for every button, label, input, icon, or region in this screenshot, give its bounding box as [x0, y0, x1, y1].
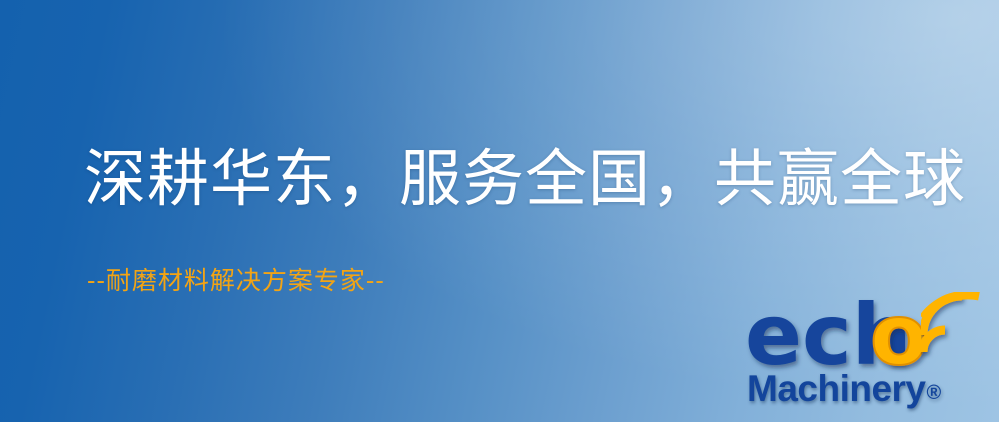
- hero-banner: 深耕华东，服务全国，共赢全球 --耐磨材料解决方案专家-- ech o: [0, 0, 999, 422]
- signal-arcs-icon: [921, 292, 999, 370]
- logo-tagline: Machinery®: [747, 368, 941, 410]
- registered-trademark-symbol: ®: [927, 382, 941, 404]
- logo-tagline-text: Machinery: [747, 368, 926, 409]
- company-logo[interactable]: ech o Machinery®: [745, 292, 999, 422]
- banner-subtitle: --耐磨材料解决方案专家--: [87, 268, 385, 293]
- banner-headline: 深耕华东，服务全国，共赢全球: [84, 148, 966, 210]
